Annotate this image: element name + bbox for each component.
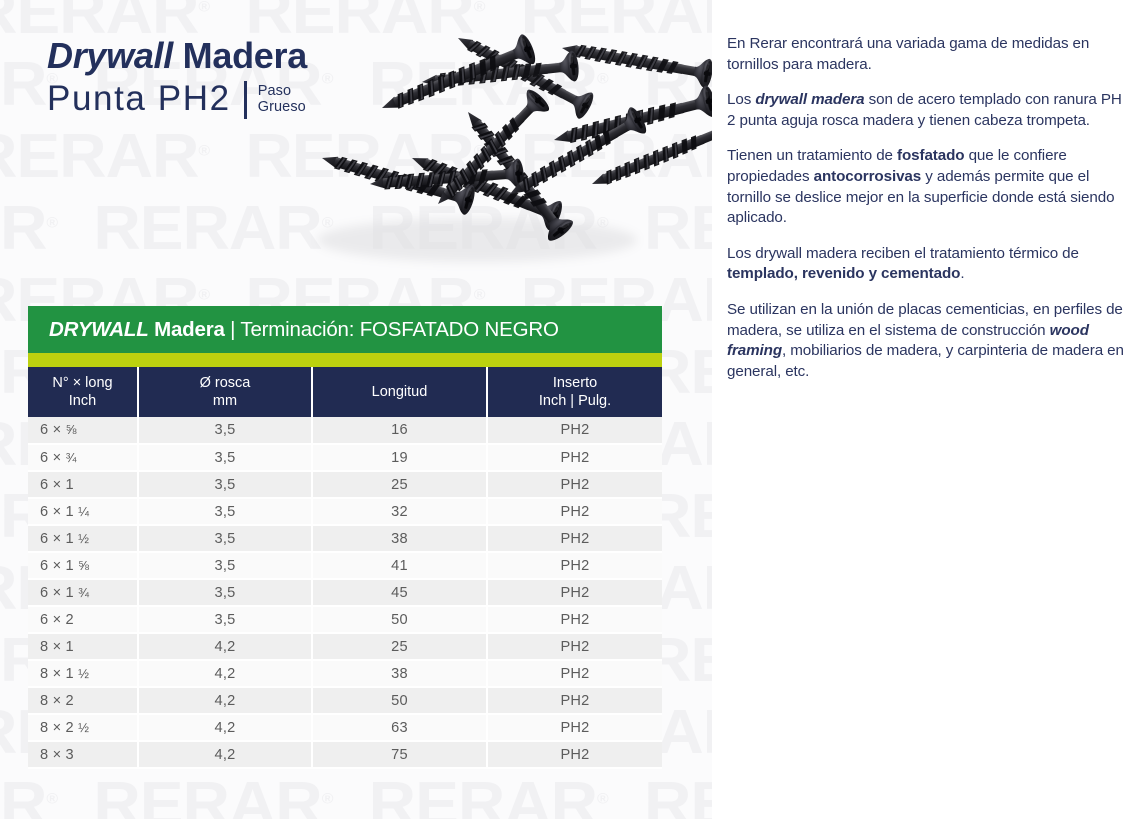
table-row: 8 × 34,275PH2 — [28, 741, 662, 768]
cell-inserto: PH2 — [487, 660, 662, 687]
headline-drywall: Drywall — [47, 35, 173, 76]
table-row: 8 × 24,250PH2 — [28, 687, 662, 714]
fraction: ⅝ — [78, 558, 89, 573]
table-row: 8 × 1 ½4,238PH2 — [28, 660, 662, 687]
cell-longitud: 50 — [312, 606, 487, 633]
cell-medida: 6 × 1 ¼ — [28, 498, 138, 525]
cell-medida: 6 × 2 — [28, 606, 138, 633]
headline-sub-line2: Grueso — [258, 100, 306, 116]
cell-medida: 6 × 1 ½ — [28, 525, 138, 552]
cell-longitud: 25 — [312, 633, 487, 660]
cell-medida: 8 × 1 — [28, 633, 138, 660]
cell-inserto: PH2 — [487, 552, 662, 579]
cell-rosca: 3,5 — [138, 471, 312, 498]
table-row: 6 × 23,550PH2 — [28, 606, 662, 633]
cell-rosca: 4,2 — [138, 741, 312, 768]
emphasis-antocorrosivas: antocorrosivas — [814, 168, 922, 185]
headline-sub-line1: Paso — [258, 84, 306, 100]
col-header-rosca: Ø rosca mm — [138, 367, 312, 417]
fraction: ½ — [78, 720, 89, 735]
cell-inserto: PH2 — [487, 714, 662, 741]
cell-rosca: 3,5 — [138, 606, 312, 633]
col-header-medida: N° × long Inch — [28, 367, 138, 417]
cell-medida: 6 × 1 — [28, 471, 138, 498]
fraction: ½ — [78, 666, 89, 681]
cell-inserto: PH2 — [487, 498, 662, 525]
cell-inserto: PH2 — [487, 633, 662, 660]
table-row: 6 × ¾3,519PH2 — [28, 444, 662, 471]
description-copy: En Rerar encontrará una variada gama de … — [727, 34, 1127, 382]
description-paragraph-1: En Rerar encontrará una variada gama de … — [727, 34, 1127, 75]
spec-table: DRYWALL Madera | Terminación: FOSFATADO … — [28, 306, 662, 769]
cell-inserto: PH2 — [487, 525, 662, 552]
title-madera: Madera — [149, 318, 225, 341]
description-panel: En Rerar encontrará una variada gama de … — [712, 0, 1145, 819]
description-paragraph-2: Los drywall madera son de acero templado… — [727, 90, 1127, 131]
cell-rosca: 3,5 — [138, 552, 312, 579]
table-row: 6 × 1 ¾3,545PH2 — [28, 579, 662, 606]
cell-medida: 8 × 2 — [28, 687, 138, 714]
headline-madera: Madera — [173, 35, 307, 76]
emphasis-tratamiento-termico: templado, revenido y cementado — [727, 265, 960, 282]
emphasis-fosfatado: fosfatado — [897, 147, 964, 164]
cell-longitud: 38 — [312, 660, 487, 687]
title-termination: | Terminación: FOSFATADO NEGRO — [225, 318, 559, 341]
spec-table-accent-bar — [28, 353, 662, 367]
table-body: 6 × ⅝3,516PH26 × ¾3,519PH26 × 13,525PH26… — [28, 417, 662, 768]
cell-rosca: 3,5 — [138, 525, 312, 552]
cell-medida: 6 × ⅝ — [28, 417, 138, 444]
col-header-inserto: Inserto Inch | Pulg. — [487, 367, 662, 417]
emphasis-drywall-madera: drywall madera — [755, 91, 864, 108]
cell-longitud: 32 — [312, 498, 487, 525]
headline-subtitle: Paso Grueso — [258, 79, 306, 115]
col-header-longitud: Longitud — [312, 367, 487, 417]
product-spec-sheet: RERAR® RERAR® RERAR® RERAR® RERAR® RERAR… — [0, 0, 1145, 819]
table-row: 6 × 1 ⅝3,541PH2 — [28, 552, 662, 579]
fraction: ⅝ — [66, 422, 77, 437]
table-row: 8 × 2 ½4,263PH2 — [28, 714, 662, 741]
product-photo-screws — [262, 8, 712, 298]
headline-line1: Drywall Madera — [47, 36, 307, 76]
table-row: 8 × 14,225PH2 — [28, 633, 662, 660]
table-row: 6 × ⅝3,516PH2 — [28, 417, 662, 444]
cell-longitud: 50 — [312, 687, 487, 714]
table-header-row: N° × long Inch Ø rosca mm Longitud Inser… — [28, 367, 662, 417]
cell-rosca: 4,2 — [138, 660, 312, 687]
cell-rosca: 4,2 — [138, 633, 312, 660]
cell-rosca: 4,2 — [138, 687, 312, 714]
cell-medida: 8 × 3 — [28, 741, 138, 768]
cell-longitud: 38 — [312, 525, 487, 552]
table-row: 6 × 1 ½3,538PH2 — [28, 525, 662, 552]
cell-medida: 6 × 1 ¾ — [28, 579, 138, 606]
cell-longitud: 19 — [312, 444, 487, 471]
table-row: 6 × 1 ¼3,532PH2 — [28, 498, 662, 525]
fraction: ¾ — [66, 450, 77, 465]
cell-medida: 8 × 2 ½ — [28, 714, 138, 741]
fraction: ¼ — [78, 504, 89, 519]
product-headline: Drywall Madera Punta PH2 Paso Grueso — [47, 36, 307, 119]
cell-inserto: PH2 — [487, 579, 662, 606]
cell-longitud: 25 — [312, 471, 487, 498]
cell-medida: 6 × 1 ⅝ — [28, 552, 138, 579]
cell-inserto: PH2 — [487, 606, 662, 633]
title-drywall: DRYWALL — [49, 318, 149, 341]
cell-longitud: 75 — [312, 741, 487, 768]
description-paragraph-5: Se utilizan en la unión de placas cement… — [727, 300, 1127, 382]
cell-rosca: 3,5 — [138, 444, 312, 471]
cell-rosca: 4,2 — [138, 714, 312, 741]
cell-inserto: PH2 — [487, 444, 662, 471]
cell-inserto: PH2 — [487, 471, 662, 498]
watermark-row: RERAR® RERAR® RERAR® RERAR® RERAR® RERAR… — [0, 774, 712, 819]
cell-medida: 6 × ¾ — [28, 444, 138, 471]
cell-rosca: 3,5 — [138, 498, 312, 525]
cell-longitud: 45 — [312, 579, 487, 606]
cell-inserto: PH2 — [487, 417, 662, 444]
cell-inserto: PH2 — [487, 741, 662, 768]
cell-longitud: 63 — [312, 714, 487, 741]
description-paragraph-3: Tienen un tratamiento de fosfatado que l… — [727, 146, 1127, 228]
cell-rosca: 3,5 — [138, 417, 312, 444]
description-paragraph-4: Los drywall madera reciben el tratamient… — [727, 244, 1127, 285]
cell-medida: 8 × 1 ½ — [28, 660, 138, 687]
headline-line2: Punta PH2 — [47, 79, 231, 119]
fraction: ½ — [78, 531, 89, 546]
table-row: 6 × 13,525PH2 — [28, 471, 662, 498]
headline-divider — [244, 81, 247, 119]
cell-rosca: 3,5 — [138, 579, 312, 606]
cell-longitud: 41 — [312, 552, 487, 579]
spec-table-title: DRYWALL Madera | Terminación: FOSFATADO … — [28, 306, 662, 353]
cell-longitud: 16 — [312, 417, 487, 444]
cell-inserto: PH2 — [487, 687, 662, 714]
spec-table-grid: N° × long Inch Ø rosca mm Longitud Inser… — [28, 367, 662, 769]
fraction: ¾ — [78, 585, 89, 600]
